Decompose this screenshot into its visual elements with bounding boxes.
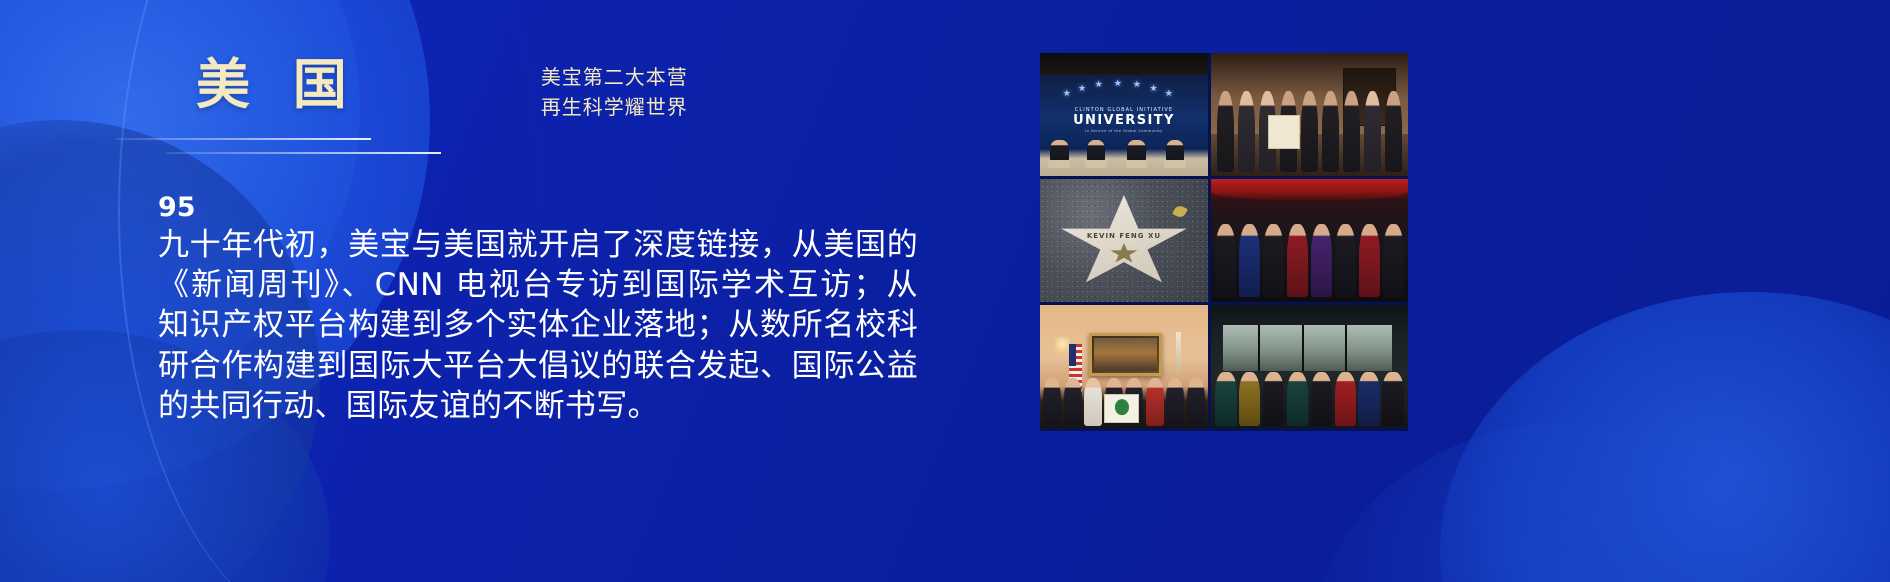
paragraph-line: 《新闻周刊》、CNN 电视台专访到国际学术互访；从 [158,267,918,303]
certificate [1268,115,1300,149]
subtitle-block: 美宝第二大本营 再生科学耀世界 [541,62,688,122]
content-block: 95 九十年代初，美宝与美国就开启了深度链接，从美国的 《新闻周刊》、CNN 电… [158,193,918,426]
graduation-people-row [1215,367,1404,426]
title-underline-upper [116,138,371,140]
star-name-label: KEVIN FENG XU [1087,232,1161,240]
ceiling-drape [1211,179,1408,200]
title-underline-lower [166,152,441,154]
star-icon [1058,195,1189,291]
content-paragraph: 九十年代初，美宝与美国就开启了深度链接，从美国的 《新闻周刊》、CNN 电视台专… [158,225,918,426]
leaf-icon [1173,204,1188,219]
page-title: 美 国 [196,56,359,114]
title-row: 美 国 美宝第二大本营 再生科学耀世界 [196,56,896,122]
photo-clinton-global-initiative-university: ★ ★ ★ ★ ★ ★ ★ CLINTON GLOBAL INITIATIVE … [1040,53,1208,176]
framed-painting [1089,333,1162,376]
award-people-row [1217,84,1402,173]
slide-header: 美 国 美宝第二大本营 再生科学耀世界 [196,56,896,164]
paragraph-line: 的共同行动、国际友谊的不断书写。 [158,388,659,424]
background-blob-bottom-right-inner [1310,422,1830,582]
photo-caption-cgi: CLINTON GLOBAL INITIATIVE UNIVERSITY In … [1040,107,1208,133]
slide-root: 美 国 美宝第二大本营 再生科学耀世界 95 九十年代初，美宝与美国就开启了深度… [0,0,1890,582]
paragraph-line: 研合作构建到国际大平台大倡议的联合发起、国际公益 [158,348,918,384]
candle-pillar [1176,332,1181,374]
photo-academic-regalia-group [1211,179,1408,302]
subtitle-line-2: 再生科学耀世界 [541,92,688,122]
content-number: 95 [158,193,918,223]
photo-certificate-award-group [1211,53,1408,176]
background-blob-bottom-right [1440,292,1890,582]
regalia-people-row [1215,216,1404,297]
photo-flag-room-ceremony [1040,305,1208,428]
stage-stars-decor: ★ ★ ★ ★ ★ ★ ★ [1060,80,1188,100]
paragraph-line: 知识产权平台构建到多个实体企业落地；从数所名校科 [158,307,918,343]
photo-walk-of-fame-star: KEVIN FENG XU [1040,179,1208,302]
cgi-caption-line-1: CLINTON GLOBAL INITIATIVE [1040,107,1208,113]
cgi-caption-line-2: UNIVERSITY [1040,113,1208,129]
lobby-glass-wall [1223,325,1393,372]
subtitle-line-1: 美宝第二大本营 [541,62,688,92]
award-plaque [1104,394,1140,423]
title-underline-group [196,138,666,164]
paragraph-line: 九十年代初，美宝与美国就开启了深度链接，从美国的 [158,227,918,263]
panel-seating [1040,132,1208,169]
photo-collage: ★ ★ ★ ★ ★ ★ ★ CLINTON GLOBAL INITIATIVE … [1040,53,1408,431]
photo-lobby-graduation-group [1211,305,1408,428]
